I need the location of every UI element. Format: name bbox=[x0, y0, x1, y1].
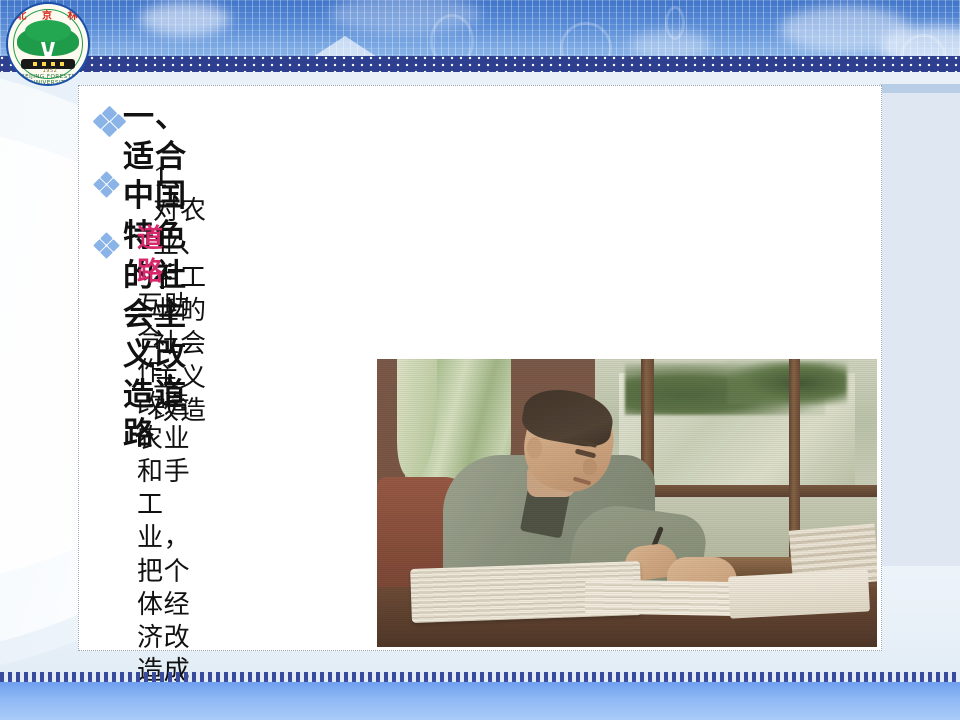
diamond-cluster-bullet-icon bbox=[93, 107, 123, 137]
university-logo-icon: 北 京 林 业 1952 BEIJING FORESTRY UNIVERSITY bbox=[6, 2, 90, 86]
bullet-body-rest: ：互助合作，改造农业和手工业，把个体经济改造成社会主义的集体经济。 bbox=[137, 257, 190, 720]
diamond-cluster-bullet-icon bbox=[93, 172, 119, 198]
ring-motif bbox=[665, 6, 685, 40]
footer-dash-strip bbox=[0, 672, 960, 682]
cloud-shape bbox=[140, 2, 230, 36]
content-text-box: 一、适合中国特色的社会主义改造道路 1、对农业、手工业的社会主义改造 道路：互助… bbox=[78, 85, 882, 651]
bullet-item-title: 一、适合中国特色的社会主义改造道路 bbox=[93, 98, 137, 152]
bullet-list: 一、适合中国特色的社会主义改造道路 1、对农业、手工业的社会主义改造 道路：互助… bbox=[79, 86, 883, 257]
bullet-item-body: 道路：互助合作，改造农业和手工业，把个体经济改造成社会主义的集体经济。 bbox=[93, 223, 113, 257]
logo-tree-canopy-top bbox=[25, 20, 71, 42]
presentation-slide: 北 京 林 业 1952 BEIJING FORESTRY UNIVERSITY… bbox=[0, 0, 960, 720]
slide-header-banner bbox=[0, 0, 960, 72]
footer-gradient-bar bbox=[0, 682, 960, 720]
mao-zedong-at-desk-photo bbox=[377, 359, 877, 647]
header-dotted-band bbox=[0, 56, 960, 72]
slide-footer bbox=[0, 672, 960, 720]
diamond-cluster-bullet-icon bbox=[93, 233, 119, 259]
right-side-panel bbox=[880, 84, 960, 566]
bullet-item-sub: 1、对农业、手工业的社会主义改造 bbox=[93, 162, 145, 214]
bullet-body-text: 道路：互助合作，改造农业和手工业，把个体经济改造成社会主义的集体经济。 bbox=[119, 223, 190, 720]
highlight-term: 道路 bbox=[137, 224, 164, 287]
photo-color-wash bbox=[377, 359, 877, 647]
